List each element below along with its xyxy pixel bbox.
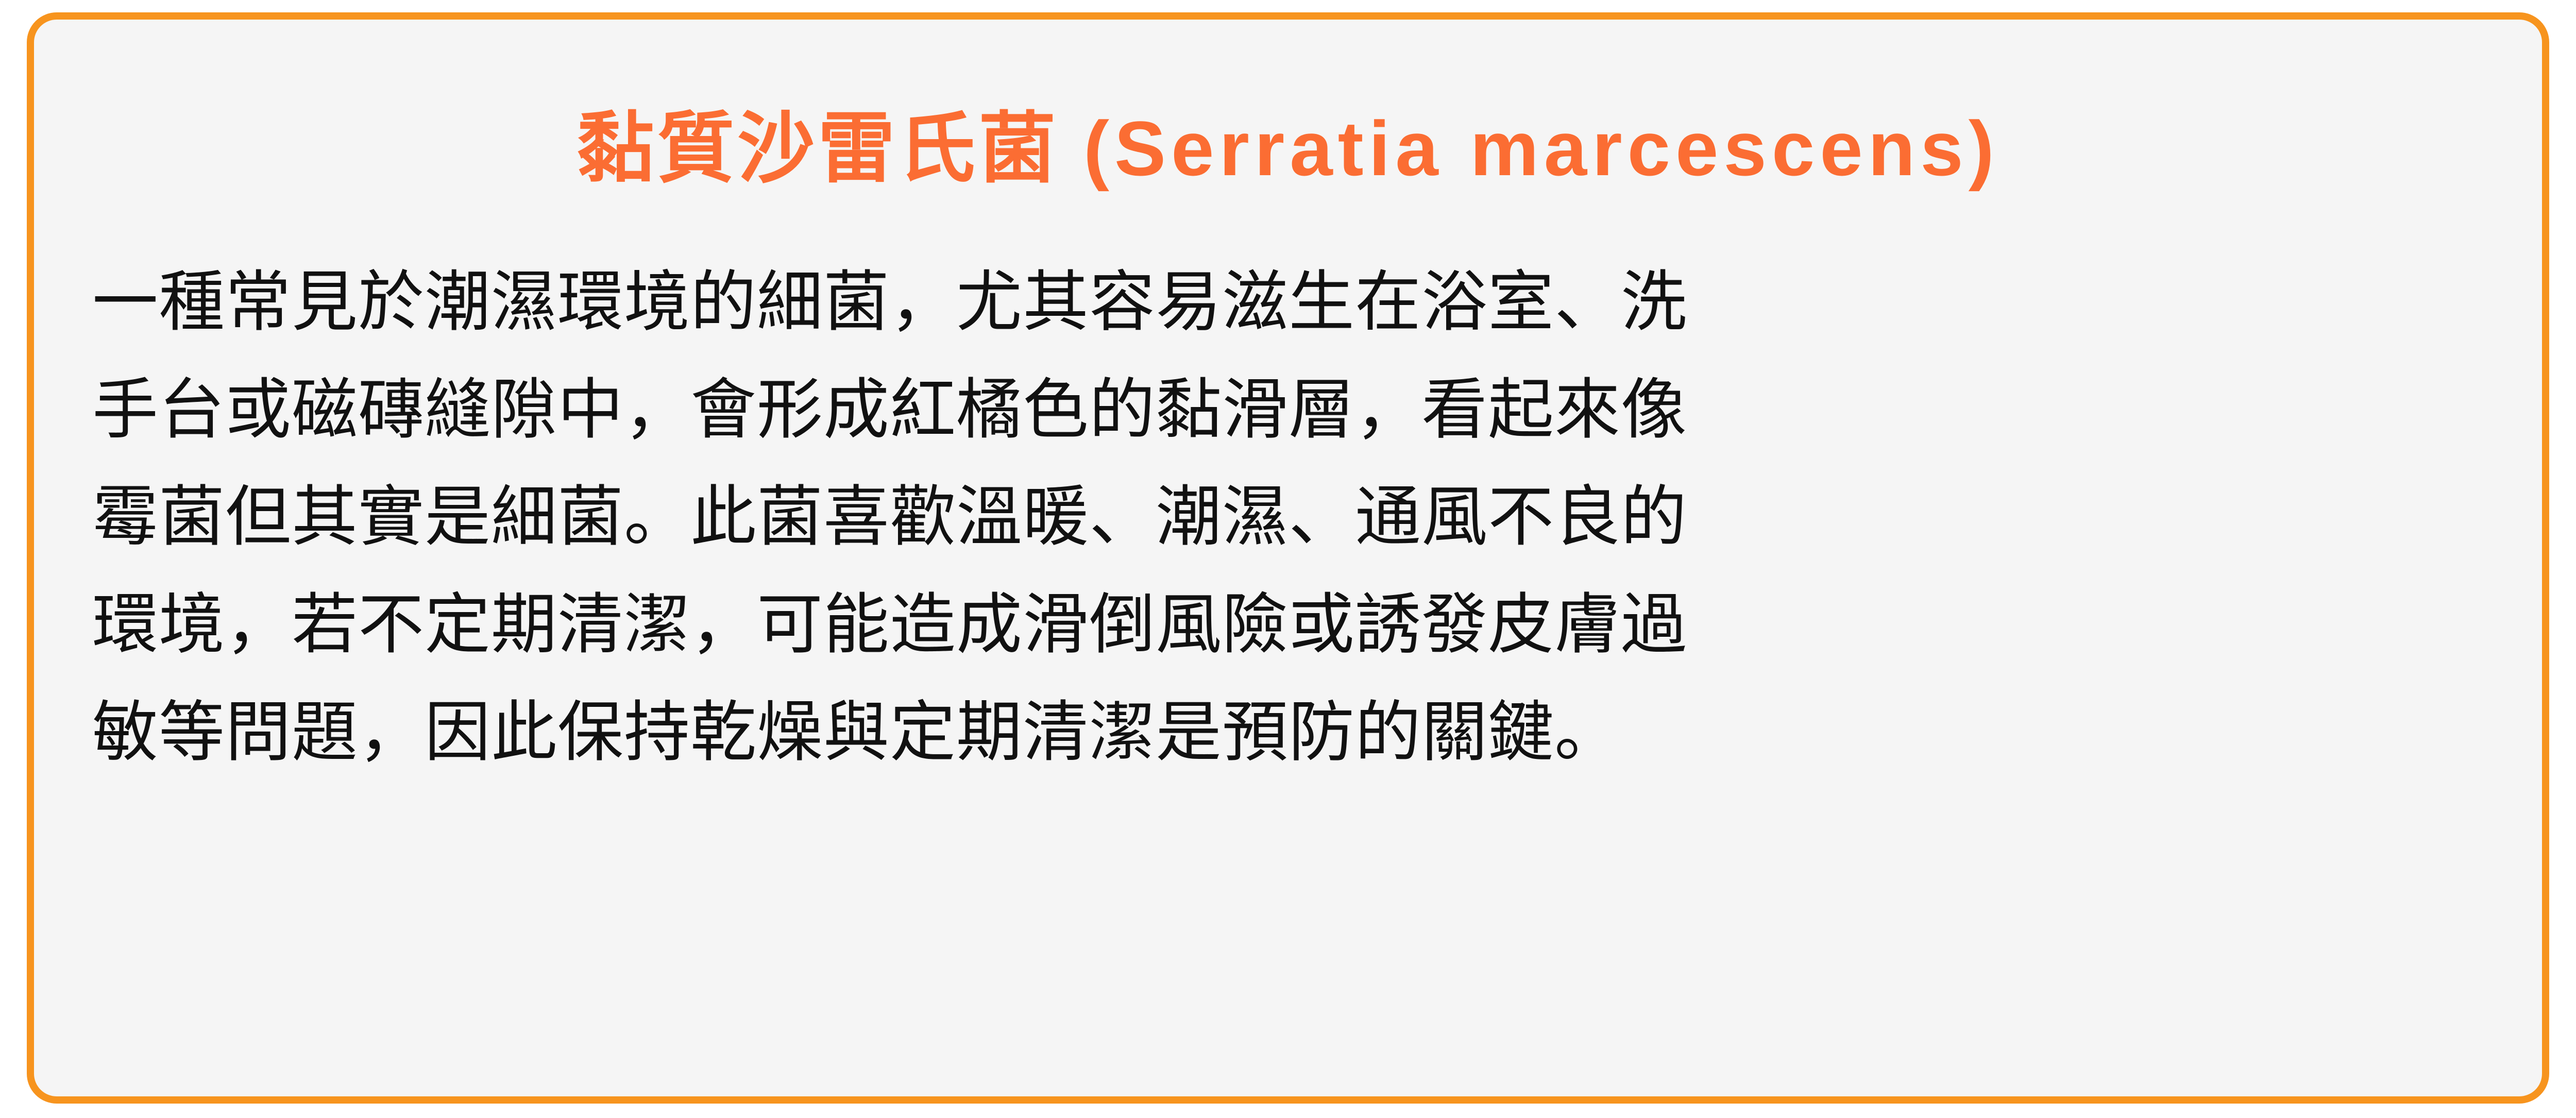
title-chinese-name: 黏質沙雷氏菌 <box>577 105 1059 192</box>
description-line: 手台或磁磚縫隙中，會形成紅橘色的黏滑層，看起來像 <box>92 357 2483 464</box>
description-line: 霉菌但其實是細菌。此菌喜歡溫暖、潮濕、通風不良的 <box>92 464 2483 571</box>
description-line: 一種常見於潮濕環境的細菌，尤其容易滋生在浴室、洗 <box>92 249 2483 357</box>
description-text: 一種常見於潮濕環境的細菌，尤其容易滋生在浴室、洗 手台或磁磚縫隙中，會形成紅橘色… <box>73 249 2503 786</box>
page-title: 黏質沙雷氏菌 (Serratia marcescens) <box>34 106 2542 191</box>
description-line: 環境，若不定期清潔，可能造成滑倒風險或誘發皮膚過 <box>92 571 2483 679</box>
info-card: 黏質沙雷氏菌 (Serratia marcescens) 一種常見於潮濕環境的細… <box>27 12 2549 1104</box>
description-line: 敏等問題，因此保持乾燥與定期清潔是預防的關鍵。 <box>92 679 2483 787</box>
title-scientific-name: (Serratia marcescens) <box>1083 105 1999 192</box>
